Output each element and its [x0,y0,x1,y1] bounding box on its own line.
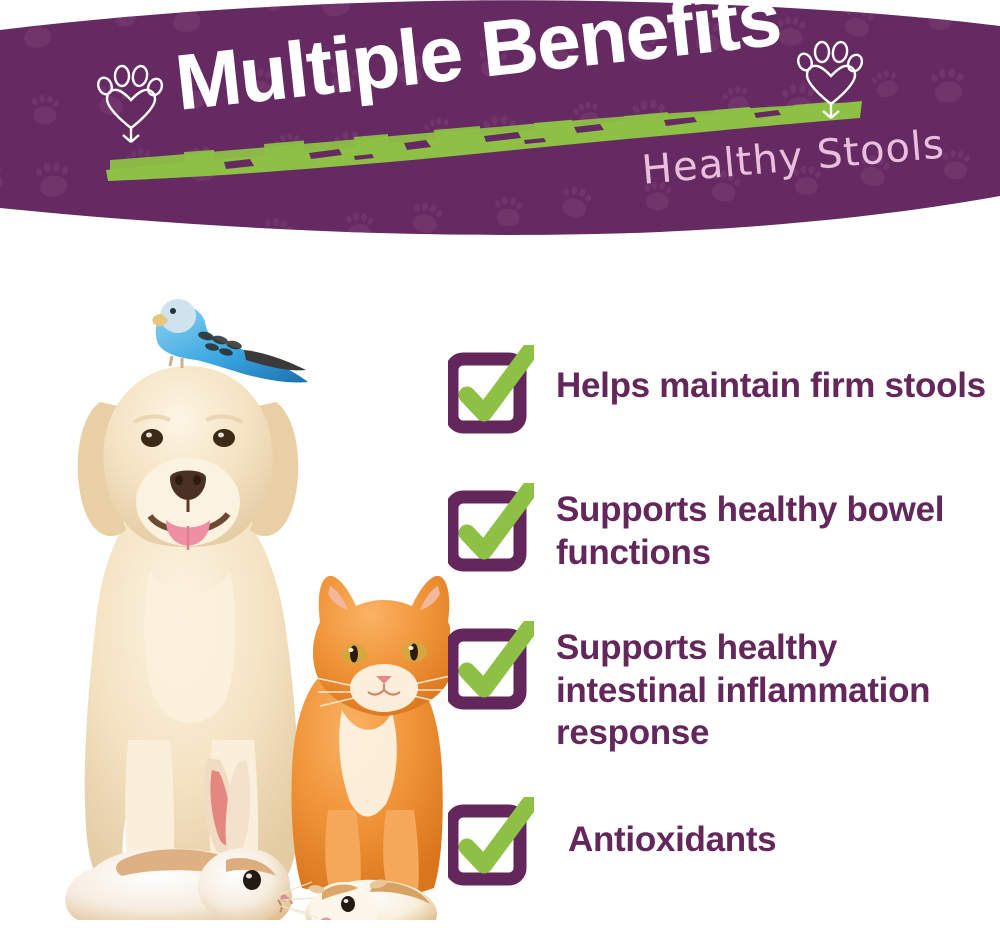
paw-heart-icon-right [795,38,867,120]
benefits-infographic: Multiple Benefits Healthy Stools [0,0,1000,928]
dog-golden-retriever [78,366,299,894]
benefit-item[interactable]: Antioxidants [448,797,993,893]
benefit-item[interactable]: Supports healthy bowel functions [448,483,993,579]
header-banner: Multiple Benefits Healthy Stools [0,0,1000,250]
benefit-label: Helps maintain firm stools [556,345,986,408]
checkbox-checked-icon[interactable] [448,621,534,713]
benefit-item[interactable]: Helps maintain firm stools [448,345,993,441]
benefits-list: Helps maintain firm stools Supports heal… [448,345,993,893]
checkbox-checked-icon[interactable] [448,345,534,437]
cat-orange [291,576,450,894]
checkbox-checked-icon[interactable] [448,797,534,889]
main-content: Helps maintain firm stools Supports heal… [0,250,1000,928]
checkbox-checked-icon[interactable] [448,483,534,575]
benefit-label: Supports healthy bowel functions [556,483,993,574]
benefit-label: Supports healthy intestinal inflammation… [556,621,993,755]
benefit-item[interactable]: Supports healthy intestinal inflammation… [448,621,993,755]
pets-group-photo [30,270,450,920]
benefit-label: Antioxidants [556,797,776,862]
